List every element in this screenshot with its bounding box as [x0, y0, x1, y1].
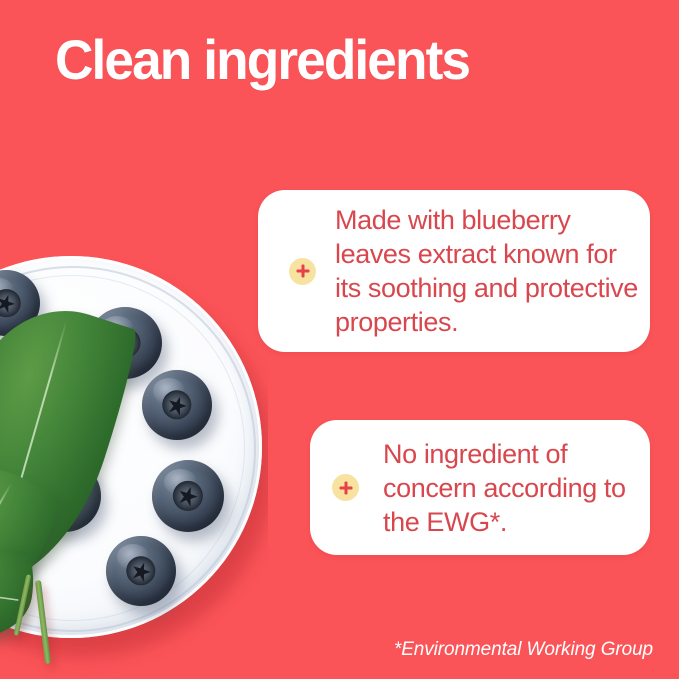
- berry-crown: [0, 289, 20, 317]
- plus-badge-icon: [289, 258, 316, 285]
- benefit-card-1-text: Made with blueberry leaves extract known…: [335, 203, 640, 339]
- promotional-graphic: Clean ingredients: [0, 0, 679, 679]
- berry-crown: [162, 390, 191, 419]
- plus-badge-icon: [332, 474, 359, 501]
- page-title: Clean ingredients: [55, 30, 469, 90]
- benefit-card-2: No ingredient of concern according to th…: [310, 420, 650, 555]
- benefit-card-1: Made with blueberry leaves extract known…: [258, 190, 650, 352]
- berry-crown: [173, 481, 203, 511]
- product-ingredient-photo: [0, 248, 268, 679]
- footnote-text: *Environmental Working Group: [394, 639, 653, 661]
- blueberry: [106, 536, 176, 606]
- blueberry: [142, 370, 212, 440]
- berry-crown: [126, 556, 155, 585]
- benefit-card-2-text: No ingredient of concern according to th…: [383, 437, 640, 539]
- blueberry: [152, 460, 224, 532]
- leaf-vein: [0, 585, 19, 601]
